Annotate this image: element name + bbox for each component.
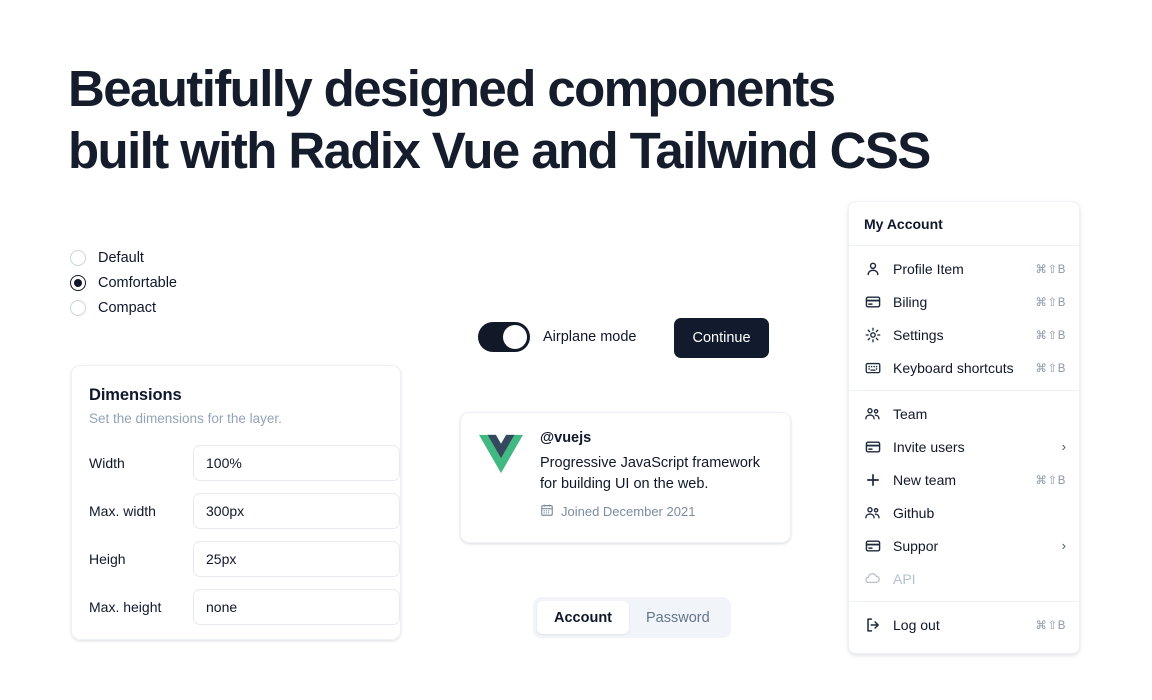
vue-joined-text: Joined December 2021 [561,504,695,519]
users-icon [864,405,881,422]
menu-item-label: New team [893,472,1035,488]
menu-item-label: API [893,571,1066,587]
menu-item-keyboard-shortcuts[interactable]: Keyboard shortcuts⌘⇧B [849,351,1079,384]
vue-joined-row: Joined December 2021 [540,503,772,520]
hero-section: Beautifully designed components built wi… [68,58,1028,182]
switch-knob [503,325,527,349]
menu-item-label: Keyboard shortcuts [893,360,1035,376]
menu-groups: Profile Item⌘⇧BBiling⌘⇧BSettings⌘⇧BKeybo… [849,246,1079,647]
menu-item-settings[interactable]: Settings⌘⇧B [849,318,1079,351]
radio-label: Default [98,250,144,266]
menu-item-shortcut: ⌘⇧B [1035,473,1066,487]
dimension-label: Heigh [89,551,193,567]
radio-option[interactable]: Comfortable [70,273,177,292]
dimension-field-row: Max. width [89,493,383,529]
dimensions-card: Dimensions Set the dimensions for the la… [71,365,401,640]
menu-item-profile-item[interactable]: Profile Item⌘⇧B [849,252,1079,285]
credit-card-icon [864,293,881,310]
menu-item-label: Settings [893,327,1035,343]
radio-option[interactable]: Compact [70,298,177,317]
menu-item-label: Team [893,406,1066,422]
dimensions-subtitle: Set the dimensions for the layer. [89,411,383,426]
menu-item-label: Suppor [893,538,1062,554]
tab-account[interactable]: Account [537,601,629,634]
menu-item-api: API [849,562,1079,595]
menu-item-label: Invite users [893,439,1062,455]
page-title: Beautifully designed components built wi… [68,58,1028,182]
radio-label: Comfortable [98,275,177,291]
chevron-right-icon: › [1062,539,1066,552]
dimension-input[interactable] [193,493,400,529]
radio-label: Compact [98,300,156,316]
user-icon [864,260,881,277]
menu-item-shortcut: ⌘⇧B [1035,618,1066,632]
menu-group: TeamInvite users›New team⌘⇧BGithubSuppor… [849,391,1079,601]
menu-item-log-out[interactable]: Log out⌘⇧B [849,608,1079,641]
dimensions-title: Dimensions [89,386,383,405]
menu-item-team[interactable]: Team [849,397,1079,430]
menu-group: Log out⌘⇧B [849,602,1079,647]
dimension-field-row: Max. height [89,589,383,625]
menu-item-label: Biling [893,294,1035,310]
menu-item-suppor[interactable]: Suppor› [849,529,1079,562]
density-radio-group: DefaultComfortableCompact [70,248,177,317]
menu-item-invite-users[interactable]: Invite users› [849,430,1079,463]
vuejs-hover-card: @vuejs Progressive JavaScript framework … [460,412,791,543]
menu-item-biling[interactable]: Biling⌘⇧B [849,285,1079,318]
radio-option[interactable]: Default [70,248,177,267]
radio-indicator[interactable] [70,300,86,316]
keyboard-icon [864,359,881,376]
airplane-mode-row: Airplane mode [478,322,637,352]
menu-item-github[interactable]: Github [849,496,1079,529]
menu-item-shortcut: ⌘⇧B [1035,295,1066,309]
plus-icon [864,471,881,488]
chevron-right-icon: › [1062,440,1066,453]
radio-indicator[interactable] [70,250,86,266]
dimension-input[interactable] [193,541,400,577]
menu-item-shortcut: ⌘⇧B [1035,262,1066,276]
credit-card-icon [864,438,881,455]
vue-logo-icon [479,432,523,476]
menu-item-label: Github [893,505,1066,521]
vue-description: Progressive JavaScript framework for bui… [540,453,772,495]
gear-icon [864,326,881,343]
dimensions-fields: WidthMax. widthHeighMax. height [89,445,383,625]
settings-tabs: AccountPassword [533,597,731,638]
tab-password[interactable]: Password [629,601,727,634]
vue-card-body: @vuejs Progressive JavaScript framework … [540,430,772,525]
dimension-input[interactable] [193,589,400,625]
airplane-mode-label: Airplane mode [543,329,637,345]
radio-indicator[interactable] [70,275,86,291]
menu-item-label: Log out [893,617,1035,633]
menu-item-shortcut: ⌘⇧B [1035,328,1066,342]
menu-item-shortcut: ⌘⇧B [1035,361,1066,375]
dimension-input[interactable] [193,445,400,481]
dimension-field-row: Heigh [89,541,383,577]
dimension-label: Max. width [89,503,193,519]
dimension-label: Width [89,455,193,471]
cloud-icon [864,570,881,587]
users-icon [864,504,881,521]
credit-card-icon [864,537,881,554]
dimension-field-row: Width [89,445,383,481]
menu-item-new-team[interactable]: New team⌘⇧B [849,463,1079,496]
menu-group: Profile Item⌘⇧BBiling⌘⇧BSettings⌘⇧BKeybo… [849,246,1079,390]
continue-button[interactable]: Continue [674,318,769,358]
dimension-label: Max. height [89,599,193,615]
calendar-icon [540,503,554,520]
menu-item-label: Profile Item [893,261,1035,277]
logout-icon [864,616,881,633]
account-dropdown-menu: My Account Profile Item⌘⇧BBiling⌘⇧BSetti… [848,201,1080,654]
vue-handle: @vuejs [540,430,772,446]
airplane-mode-switch[interactable] [478,322,530,352]
menu-header: My Account [849,202,1079,245]
